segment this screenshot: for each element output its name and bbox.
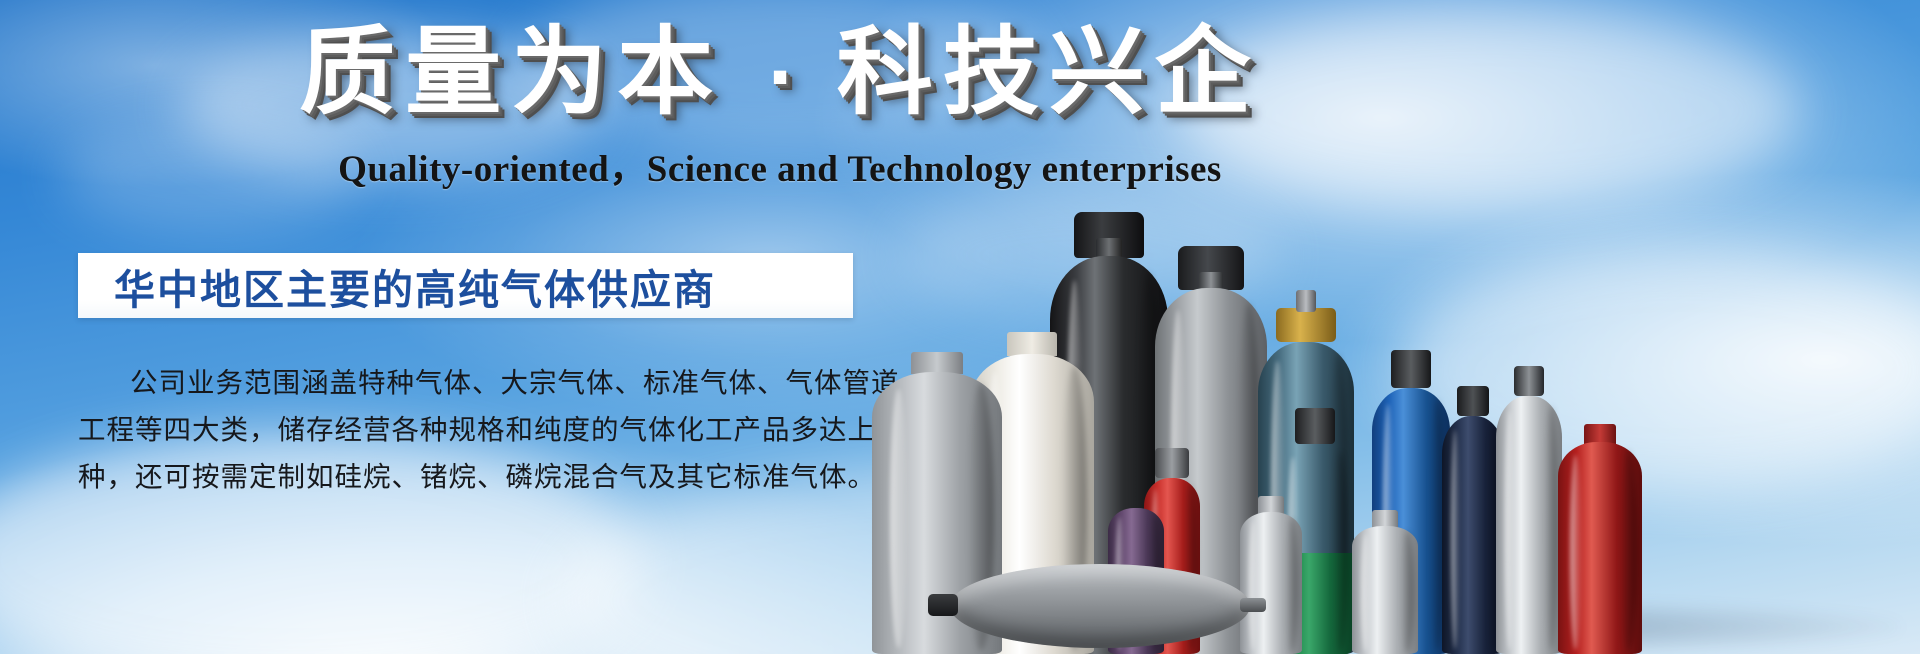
tagline-callout-box: 华中地区主要的高纯气体供应商 <box>78 253 853 318</box>
promotional-banner: 质量为本 · 科技兴企 Quality-oriented，Science and… <box>0 0 1920 654</box>
description-line: 公司业务范围涵盖特种气体、大宗气体、标准气体、气体管道 <box>78 360 868 407</box>
aluminium-short-bottle <box>1352 526 1418 654</box>
description-line: 工程等四大类，储存经营各种规格和纯度的气体化工产品多达上百 <box>78 407 868 454</box>
headline-right-text: 科技兴企 <box>837 16 1261 128</box>
description-line: 种，还可按需定制如硅烷、锗烷、磷烷混合气及其它标准气体。 <box>78 454 868 501</box>
horizontal-grey-tank <box>950 564 1250 648</box>
banner-headline: 质量为本 · 科技兴企 <box>0 22 1560 123</box>
aluminium-cylinder <box>1496 396 1562 654</box>
dark-navy-cylinder <box>1442 416 1504 654</box>
headline-separator-dot: · <box>767 37 794 119</box>
red-aluminium-cylinder <box>1558 442 1642 654</box>
banner-description: 公司业务范围涵盖特种气体、大宗气体、标准气体、气体管道 工程等四大类，储存经营各… <box>78 360 868 501</box>
gas-cylinder-product-photo <box>940 150 1920 654</box>
headline-left-text: 质量为本 <box>299 16 723 128</box>
tagline-text: 华中地区主要的高纯气体供应商 <box>78 256 716 316</box>
